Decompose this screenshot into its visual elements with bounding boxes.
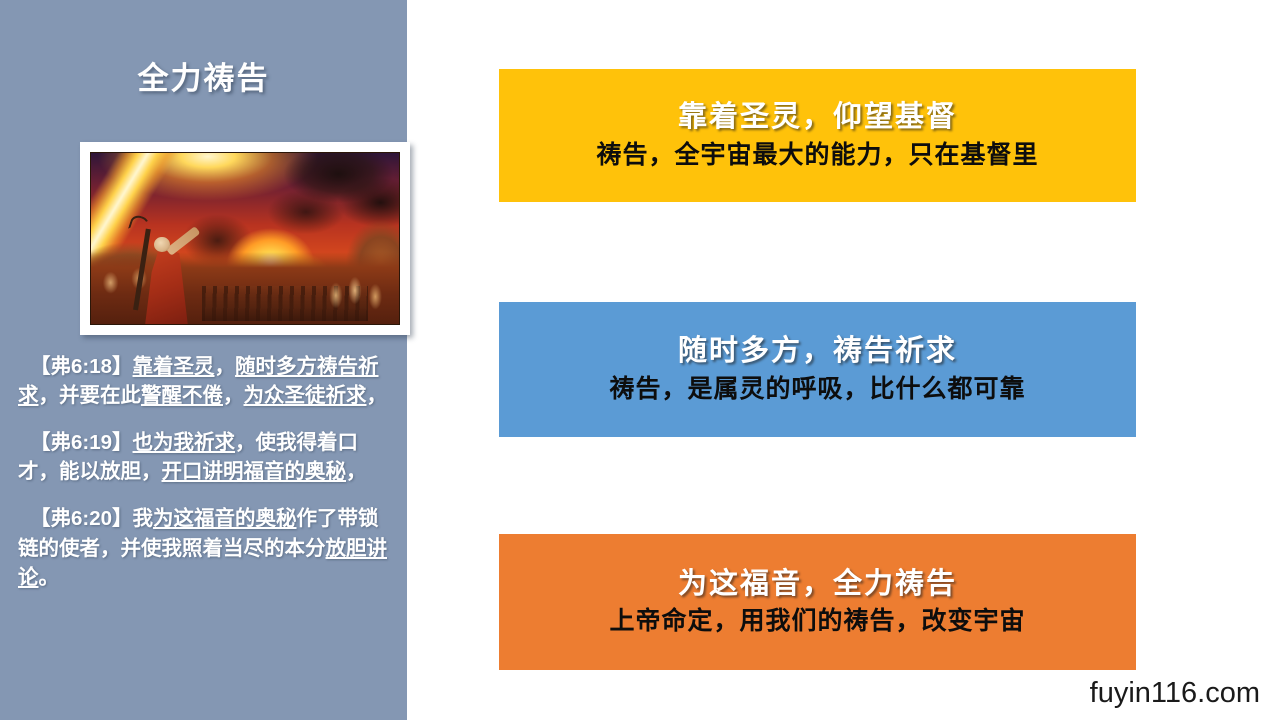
- panel-heading: 为这福音，全力祷告: [678, 568, 957, 601]
- panel-heading: 随时多方，祷告祈求: [678, 335, 957, 368]
- point-panel-blue: 随时多方，祷告祈求 祷告，是属灵的呼吸，比什么都可靠: [499, 302, 1136, 437]
- presentation-slide: 全力祷告 【弗6:18】靠着圣灵，随时多方祷告祈求，: [0, 0, 1280, 720]
- verse-text: ，: [346, 460, 367, 483]
- point-panel-yellow: 靠着圣灵，仰望基督 祷告，全宇宙最大的能力，只在基督里: [499, 69, 1136, 202]
- verse-text: ，: [223, 384, 244, 407]
- verse-text: ，: [215, 355, 236, 378]
- panel-heading: 靠着圣灵，仰望基督: [678, 101, 957, 134]
- point-panel-orange: 为这福音，全力祷告 上帝命定，用我们的祷告，改变宇宙: [499, 534, 1136, 670]
- verse-text: ，: [367, 384, 388, 407]
- verse-emphasis: 警醒不倦: [141, 384, 223, 407]
- fire-from-heaven-icon: [90, 152, 400, 325]
- site-watermark: fuyin116.com: [1090, 677, 1260, 710]
- verse-reference: 【弗6:19】: [30, 431, 133, 454]
- verse-text: 我: [133, 507, 154, 530]
- sidebar-panel: 全力祷告 【弗6:18】靠着圣灵，随时多方祷告祈求，: [0, 0, 407, 720]
- verse-text: 。: [39, 566, 60, 589]
- scripture-illustration-frame: [80, 142, 410, 335]
- panel-subtitle: 上帝命定，用我们的祷告，改变宇宙: [609, 607, 1025, 636]
- scripture-text-block: 【弗6:18】靠着圣灵，随时多方祷告祈求，并要在此警醒不倦，为众圣徒祈求，【弗6…: [18, 352, 390, 592]
- verse-reference: 【弗6:18】: [30, 355, 133, 378]
- scripture-verse: 【弗6:19】也为我祈求，使我得着口才，能以放胆，开口讲明福音的奥秘，: [18, 428, 390, 486]
- crowd-right-layer: [325, 252, 393, 314]
- verse-text: ，并要在此: [39, 384, 142, 407]
- scripture-verse: 【弗6:18】靠着圣灵，随时多方祷告祈求，并要在此警醒不倦，为众圣徒祈求，: [18, 352, 390, 410]
- verse-emphasis: 为这福音的奥秘: [153, 507, 297, 530]
- slide-title: 全力祷告: [0, 0, 407, 96]
- scripture-verse: 【弗6:20】我为这福音的奥秘作了带锁链的使者，并使我照着当尽的本分放胆讲论。: [18, 504, 390, 591]
- verse-emphasis: 开口讲明福音的奥秘: [162, 460, 347, 483]
- verse-emphasis: 靠着圣灵: [133, 355, 215, 378]
- panel-subtitle: 祷告，是属灵的呼吸，比什么都可靠: [609, 375, 1025, 404]
- verse-emphasis: 也为我祈求: [133, 431, 236, 454]
- panel-subtitle: 祷告，全宇宙最大的能力，只在基督里: [596, 141, 1038, 170]
- verse-emphasis: 为众圣徒祈求: [244, 384, 367, 407]
- verse-reference: 【弗6:20】: [30, 507, 133, 530]
